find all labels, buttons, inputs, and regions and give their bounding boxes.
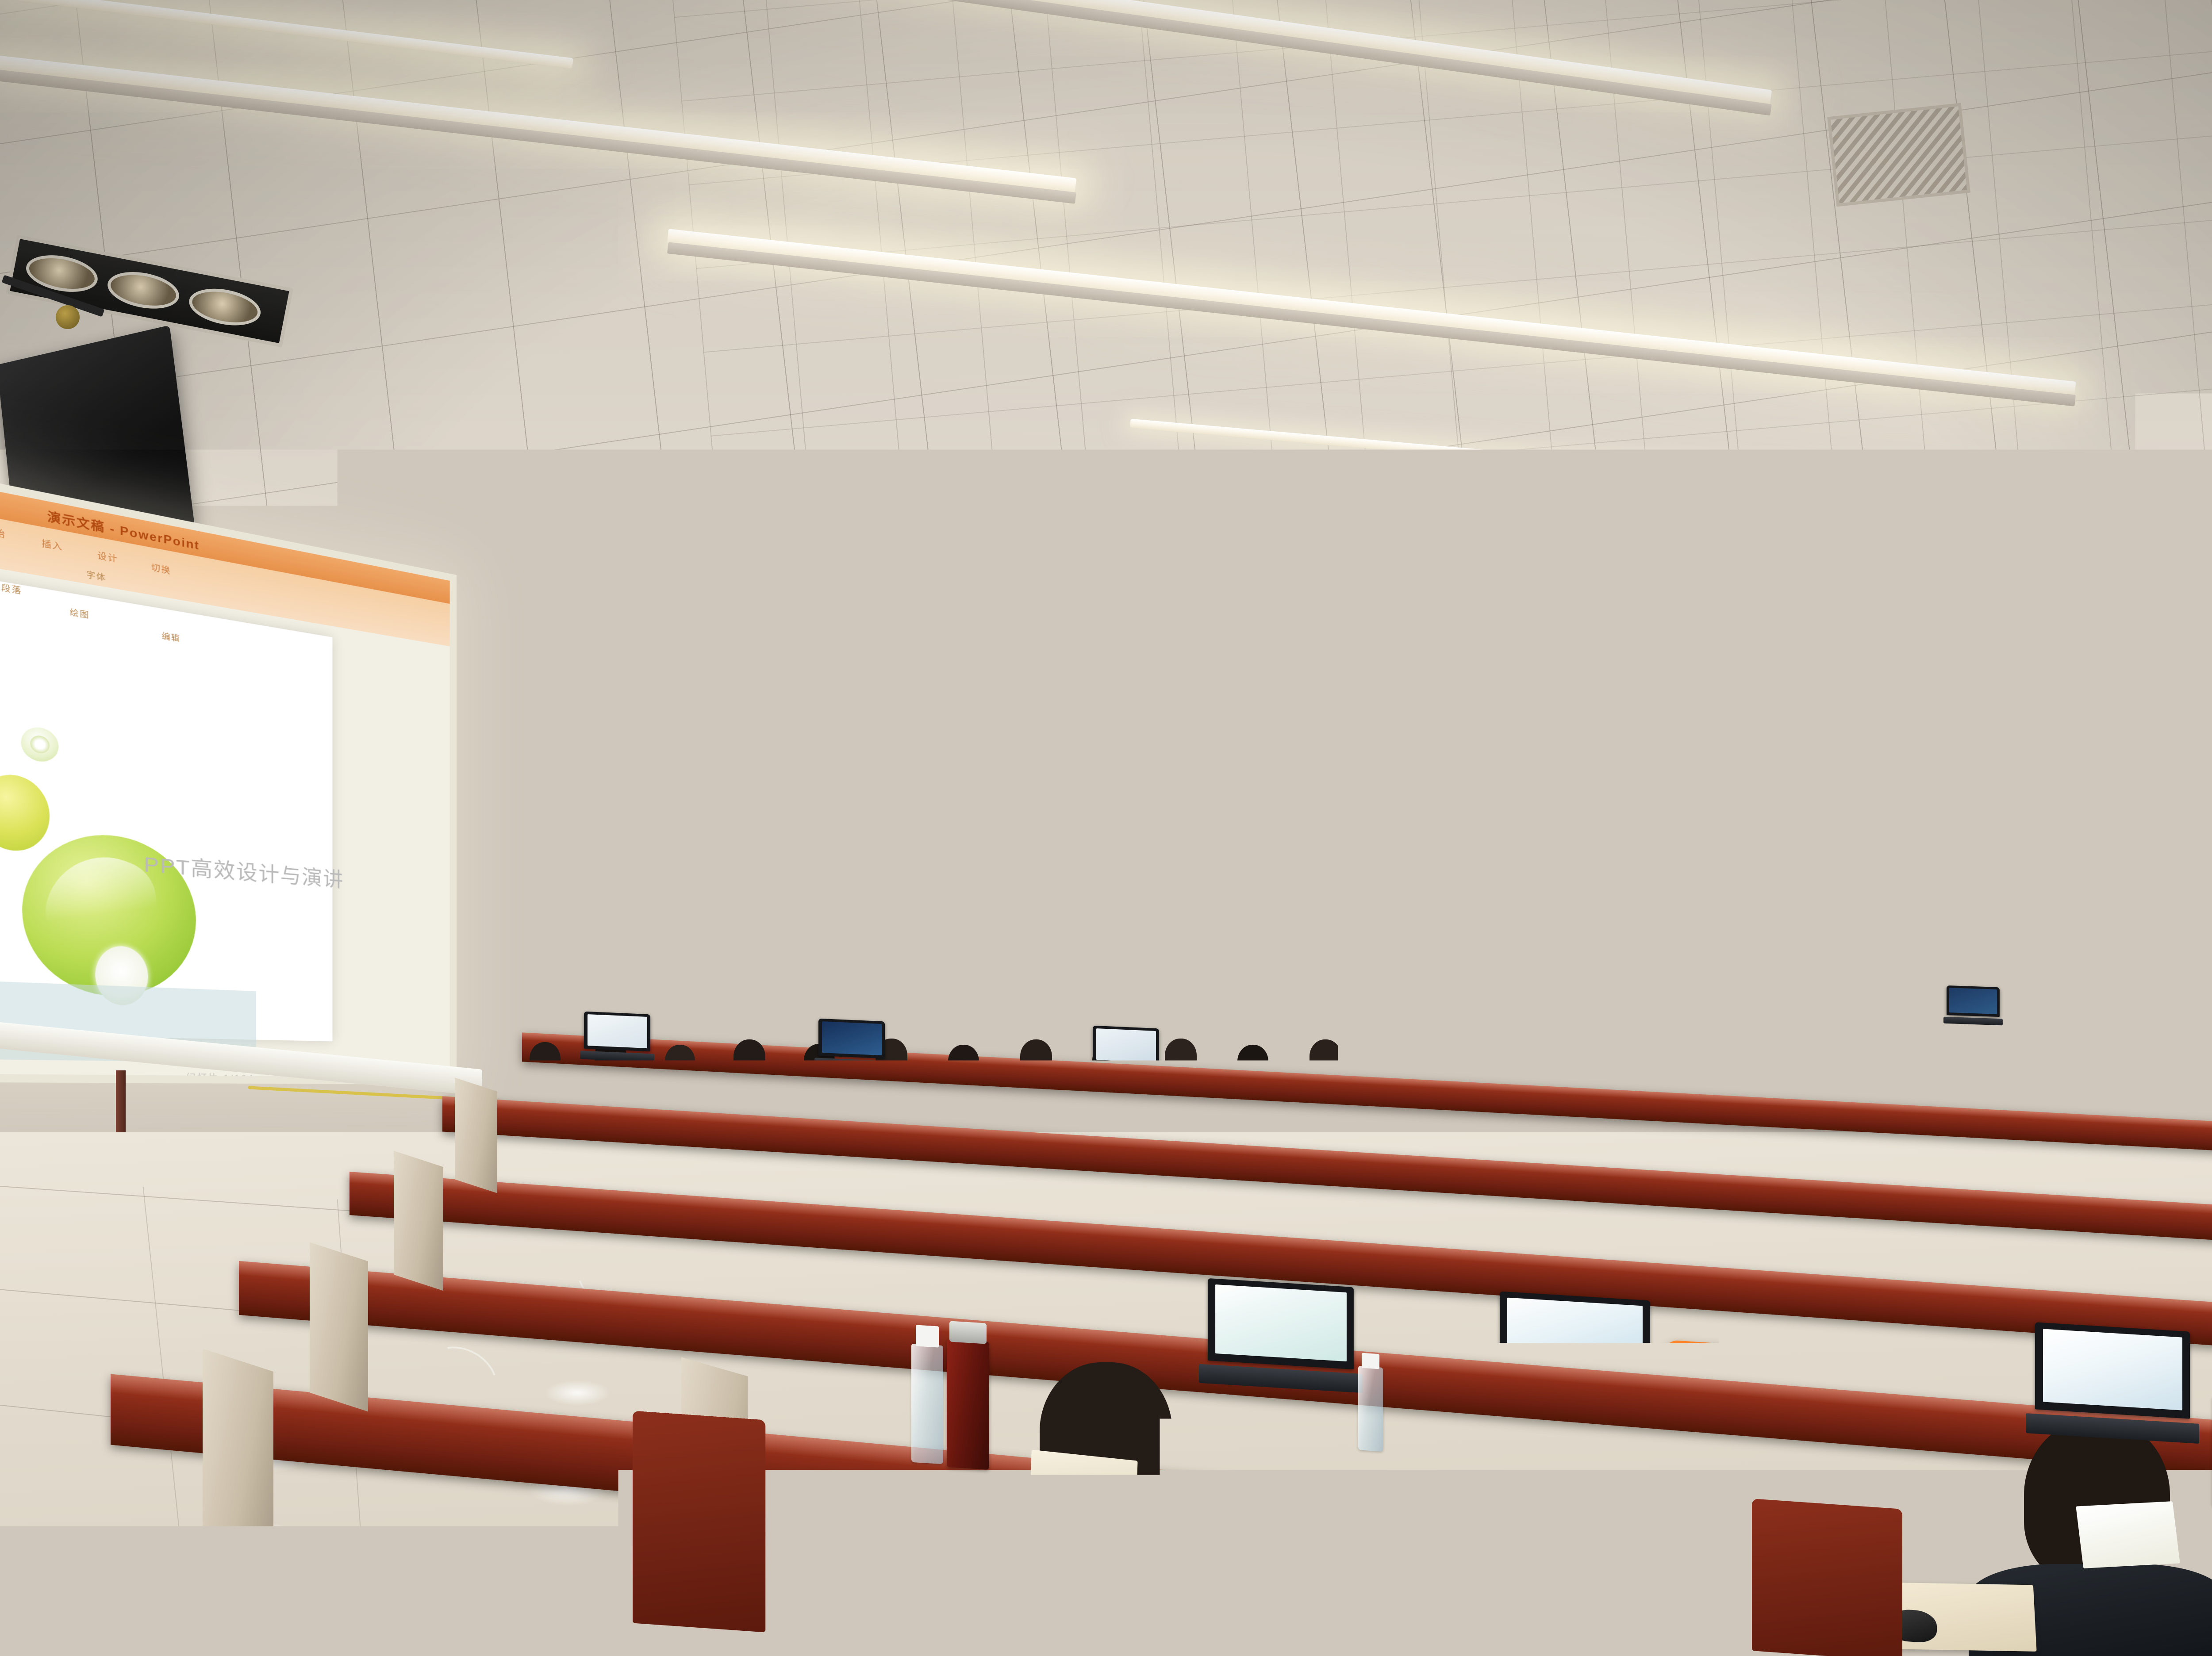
head <box>1693 1199 1802 1326</box>
status-led-icon <box>1965 802 1974 810</box>
secondary-projection-screen-left <box>442 726 640 935</box>
stage-spotlight <box>1013 684 1064 750</box>
audience-member <box>1633 945 1668 995</box>
audience-member <box>780 942 816 995</box>
attendee-laptop-foreground <box>730 1217 863 1320</box>
attendee-laptop-foreground <box>2035 1322 2190 1443</box>
audience-member <box>1018 1146 1087 1261</box>
stage-spotlight <box>549 660 602 726</box>
banner-title: “PPT高效设计演讲与建筑流程动画”主题幻灯片制作培训班 <box>676 781 1535 852</box>
stage-spotlight <box>695 668 748 734</box>
audience-member <box>1125 946 1160 995</box>
attendee-laptop <box>1093 1026 1159 1077</box>
spotlight-lamp-icon <box>104 266 182 314</box>
audience-member <box>974 942 1010 995</box>
conference-room-photo: 中国电建 POWERCHINA 中国水利水电第十一工程局有限公司 SINOHYD… <box>0 0 2212 1656</box>
attendee-laptop-foreground <box>1208 1278 1354 1392</box>
water-bottle <box>1407 1308 1433 1401</box>
stage-spotlight <box>1469 708 1517 773</box>
stage-spotlight <box>1323 700 1372 766</box>
audience-member <box>1736 946 1770 995</box>
attendee-laptop <box>818 1019 885 1069</box>
audience-member <box>1838 944 1873 995</box>
video-camera <box>994 864 1054 904</box>
audience-member <box>828 945 862 995</box>
attendee-laptop <box>898 955 950 994</box>
attendee-laptop <box>1407 969 1459 1008</box>
water-bottle <box>1840 1176 1863 1238</box>
water-bottle <box>1500 1163 1521 1224</box>
backpack-strap <box>1747 1335 1840 1447</box>
head <box>1121 1194 1216 1305</box>
stage-spotlight <box>1172 692 1223 758</box>
audience-member <box>1074 940 1110 995</box>
attendee-laptop <box>1637 1043 1704 1094</box>
audience-member <box>389 1150 456 1261</box>
slide-graphic-leaf-medium <box>0 771 50 853</box>
audience-member <box>1583 942 1618 995</box>
water-bottle <box>846 1142 866 1202</box>
attendee-laptop <box>1239 1130 1327 1197</box>
chair-back <box>1752 1499 1902 1656</box>
audience-member <box>1889 940 1925 995</box>
audience-member <box>1786 942 1822 995</box>
banner-date-location: 年11月河南·郑州 <box>1338 875 1481 908</box>
audience-member <box>566 1155 633 1261</box>
mount-knob-icon <box>56 305 80 329</box>
thermos-flask <box>947 1339 989 1470</box>
shopping-bag <box>474 1353 527 1433</box>
attendee-laptop <box>584 1012 650 1062</box>
head <box>1346 1212 1450 1334</box>
chair-back <box>1265 1464 1407 1656</box>
audience-member <box>1532 946 1567 995</box>
audience-member-front <box>991 1362 1221 1656</box>
presenter-head <box>1219 846 1256 889</box>
audience-member <box>2042 945 2077 995</box>
powerchina-logo-white-icon: 中国电建 POWERCHINA <box>637 784 670 824</box>
pendant-light-cord <box>1935 747 1938 814</box>
attendee-laptop <box>911 1121 1000 1188</box>
audience-member <box>2122 1146 2192 1261</box>
attendee-laptop <box>1164 962 1216 1000</box>
stage-spotlight <box>1876 732 1921 795</box>
audience-member <box>1328 946 1363 995</box>
ceiling-air-vent <box>1827 103 1970 207</box>
attendee-laptop-foreground <box>1575 1511 1743 1647</box>
stage-spotlight <box>1747 724 1794 787</box>
chair-back <box>633 1411 765 1633</box>
videographer-head <box>946 844 988 893</box>
banner-title-stripe: 中国电建 POWERCHINA “PPT高效设计演讲与建筑流程动画”主题幻灯片制… <box>633 773 1535 858</box>
ceiling-air-vent <box>1263 621 1337 670</box>
attendee-laptop <box>1902 1155 1993 1225</box>
attendee-laptop <box>1376 1034 1442 1085</box>
document-paper <box>2076 1501 2180 1568</box>
audience-member <box>2093 941 2130 995</box>
water-bottle <box>911 1344 943 1464</box>
attendee-laptop <box>1566 1142 1656 1211</box>
audience-member <box>637 944 672 995</box>
stage-spotlight <box>854 676 906 742</box>
slide-graphic-flower <box>21 725 58 763</box>
audience-member <box>1226 945 1261 995</box>
audience-member <box>2145 946 2179 995</box>
stage-spotlight <box>2000 741 2043 803</box>
water-bottle <box>1358 1366 1383 1452</box>
attendee-laptop-foreground <box>1500 1292 1650 1410</box>
logo-en-text-white: POWERCHINA <box>634 814 675 820</box>
attendee-laptop <box>717 950 769 989</box>
audience-member <box>1025 944 1059 995</box>
powerchina-logo-icon: 中国电建 POWERCHINA <box>650 705 691 757</box>
spotlight-lamp-icon <box>186 283 264 331</box>
logo-cn-text-white: 中国电建 <box>634 805 675 818</box>
attendee-laptop <box>633 1112 721 1180</box>
red-sweater <box>991 1493 1221 1656</box>
audience-member <box>1481 940 1517 995</box>
stage-spotlight <box>1610 716 1658 780</box>
audience-member <box>1277 941 1313 995</box>
